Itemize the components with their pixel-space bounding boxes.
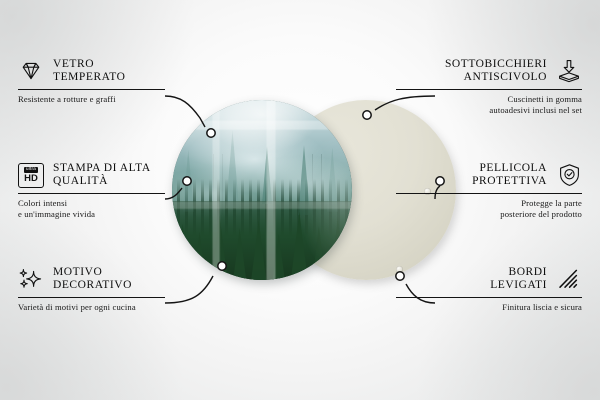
shield-check-icon (556, 162, 582, 188)
antislip-pad-icon (556, 58, 582, 84)
feature-subtitle: Cuscinetti in gomma autoadesivi inclusi … (396, 94, 582, 116)
feature-rule (396, 297, 582, 298)
bevelled-edge-icon (556, 266, 582, 292)
ultra-hd-icon: ultra HD (18, 162, 44, 188)
diamond-icon (18, 58, 44, 84)
feature-rule (396, 89, 582, 90)
sparkle-icon (18, 266, 44, 292)
feature-rule (18, 297, 165, 298)
feature-title: STAMPA DI ALTA QUALITÀ (53, 162, 151, 189)
feature-pellicola-protettiva: PELLICOLA PROTETTIVA Protegge la parte p… (396, 160, 582, 220)
feature-motivo-decorativo: MOTIVO DECORATIVO Varietà di motivi per … (18, 264, 204, 313)
feature-rule (18, 89, 165, 90)
feature-subtitle: Colori intensi e un'immagine vivida (18, 198, 204, 220)
infographic-canvas: VETRO TEMPERATO Resistente a rotture e g… (0, 0, 600, 400)
feature-title: VETRO TEMPERATO (53, 58, 125, 85)
feature-subtitle: Protegge la parte posteriore del prodott… (396, 198, 582, 220)
feature-rule (18, 193, 165, 194)
feature-title: MOTIVO DECORATIVO (53, 266, 132, 293)
feature-vetro-temperato: VETRO TEMPERATO Resistente a rotture e g… (18, 56, 204, 105)
feature-title: PELLICOLA PROTETTIVA (472, 162, 547, 189)
feature-sottobicchieri-antiscivolo: SOTTOBICCHIERI ANTISCIVOLO Cuscinetti in… (396, 56, 582, 116)
feature-title: SOTTOBICCHIERI ANTISCIVOLO (445, 58, 547, 85)
feature-stampa-alta-qualita: ultra HD STAMPA DI ALTA QUALITÀ Colori i… (18, 160, 204, 220)
feature-rule (396, 193, 582, 194)
feature-subtitle: Finitura liscia e sicura (396, 302, 582, 313)
feature-bordi-levigati: BORDI LEVIGATI Finitura liscia e sicura (396, 264, 582, 313)
feature-subtitle: Varietà di motivi per ogni cucina (18, 302, 204, 313)
feature-subtitle: Resistente a rotture e graffi (18, 94, 204, 105)
feature-title: BORDI LEVIGATI (490, 266, 547, 293)
